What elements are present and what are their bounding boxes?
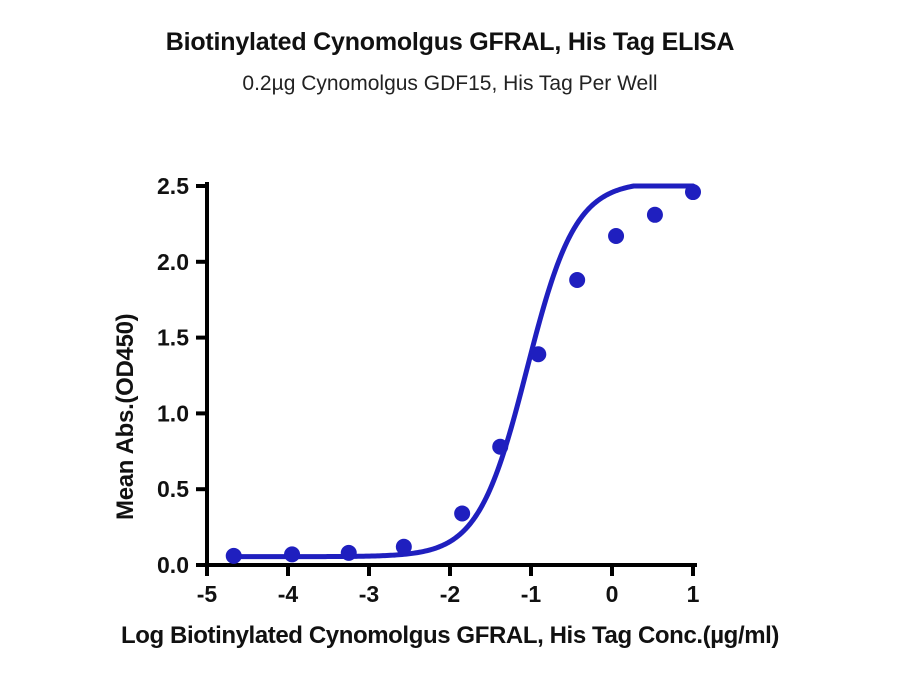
- y-tick-label-group: 0.00.51.01.52.02.5: [157, 173, 189, 578]
- data-point: [284, 546, 300, 562]
- dose-response-curve: [234, 186, 693, 557]
- data-point: [608, 228, 624, 244]
- y-tick-label: 2.0: [157, 249, 189, 275]
- data-point: [492, 439, 508, 455]
- y-tick-label: 2.5: [157, 173, 189, 199]
- y-tick-label: 0.5: [157, 476, 189, 502]
- data-point: [454, 505, 470, 521]
- x-tick-label: -2: [440, 581, 460, 607]
- data-point: [396, 539, 412, 555]
- y-tick-label: 1.5: [157, 325, 189, 351]
- data-point: [226, 548, 242, 564]
- x-tick-label: 1: [687, 581, 700, 607]
- data-point: [569, 272, 585, 288]
- y-axis-label: Mean Abs.(OD450): [112, 120, 152, 520]
- data-point-group: [226, 184, 701, 564]
- x-tick-label-group: -5-4-3-2-101: [197, 581, 700, 607]
- elisa-chart-figure: Biotinylated Cynomolgus GFRAL, His Tag E…: [0, 0, 900, 693]
- data-point: [685, 184, 701, 200]
- x-tick-label: -4: [278, 581, 299, 607]
- x-tick-label: -3: [359, 581, 379, 607]
- tick-mark-group: [196, 186, 693, 576]
- y-tick-label: 0.0: [157, 552, 189, 578]
- x-axis-label: Log Biotinylated Cynomolgus GFRAL, His T…: [0, 622, 900, 650]
- x-tick-label: 0: [606, 581, 619, 607]
- x-tick-label: -5: [197, 581, 218, 607]
- x-tick-label: -1: [521, 581, 542, 607]
- y-tick-label: 1.0: [157, 400, 189, 426]
- data-point: [341, 545, 357, 561]
- data-point: [647, 207, 663, 223]
- data-point: [530, 346, 546, 362]
